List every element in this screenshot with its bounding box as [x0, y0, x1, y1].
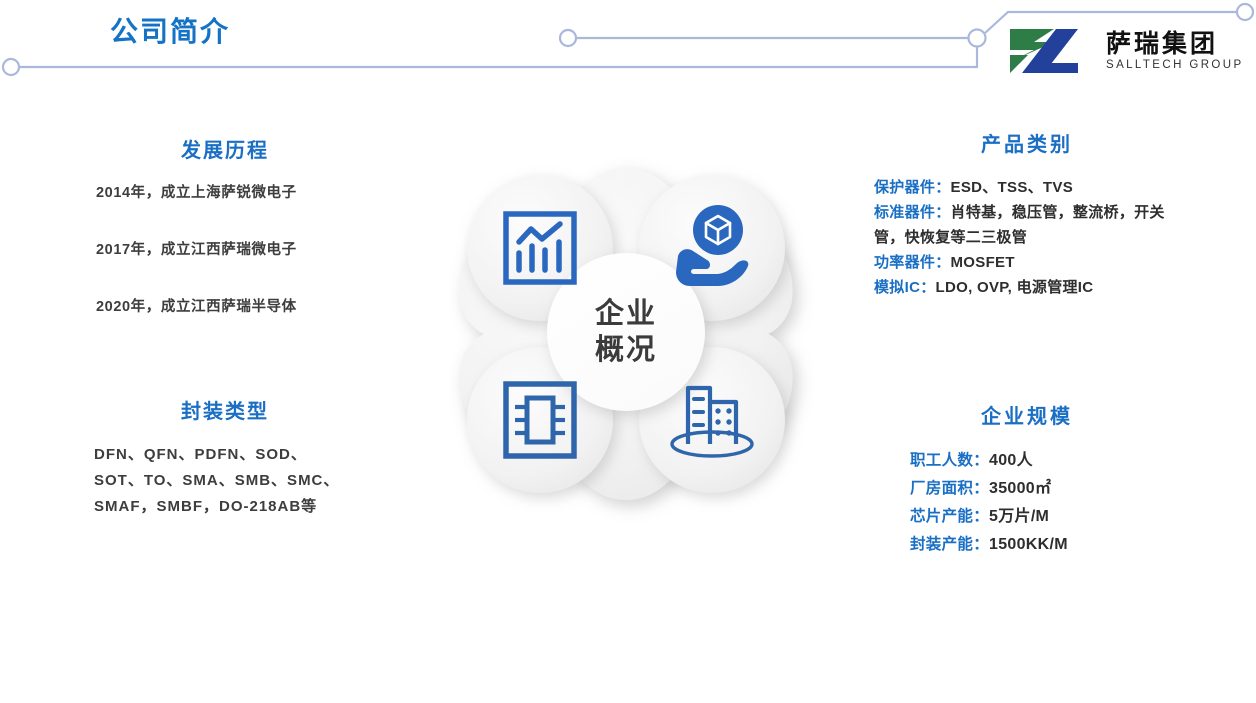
- panel-title-products: 产品类别: [862, 128, 1192, 157]
- scale-row: 厂房面积：35000㎡: [910, 475, 1192, 503]
- product-category-row: 功率器件：MOSFET: [874, 250, 1194, 275]
- product-category-value: ESD、TSS、TVS: [951, 179, 1074, 196]
- product-category-value: LDO, OVP, 电源管理IC: [936, 279, 1094, 296]
- history-item: 2014年，成立上海萨锐微电子: [96, 181, 390, 202]
- product-category-row: 模拟IC：LDO, OVP, 电源管理IC: [874, 275, 1194, 300]
- company-logo: 萨瑞集团 SALLTECH GROUP: [1004, 22, 1244, 80]
- logo-mark-icon: [1004, 25, 1096, 77]
- product-category-key: 保护器件：: [874, 179, 951, 196]
- history-item: 2017年，成立江西萨瑞微电子: [96, 238, 390, 259]
- product-category-key: 模拟IC：: [874, 279, 936, 296]
- panel-enterprise-scale: 企业规模 职工人数：400人 厂房面积：35000㎡ 芯片产能：5万片/M 封装…: [862, 400, 1192, 559]
- panel-development-history: 发展历程 2014年，成立上海萨锐微电子 2017年，成立江西萨瑞微电子 202…: [60, 134, 390, 316]
- logo-name-en: SALLTECH GROUP: [1106, 59, 1244, 71]
- product-category-key: 功率器件：: [874, 254, 951, 271]
- history-item: 2020年，成立江西萨瑞半导体: [96, 295, 390, 316]
- product-category-list: 保护器件：ESD、TSS、TVS 标准器件：肖特基，稳压管，整流桥，开关管，快恢…: [874, 175, 1194, 300]
- scale-value: 1500KK/M: [989, 536, 1068, 553]
- scale-value: 35000㎡: [989, 480, 1051, 497]
- panel-product-categories: 产品类别 保护器件：ESD、TSS、TVS 标准器件：肖特基，稳压管，整流桥，开…: [862, 128, 1192, 300]
- logo-name-cn: 萨瑞集团: [1106, 31, 1244, 57]
- scale-value: 5万片/M: [989, 508, 1049, 525]
- scale-key: 芯片产能：: [910, 508, 989, 525]
- logo-text: 萨瑞集团 SALLTECH GROUP: [1106, 31, 1244, 70]
- scale-key: 职工人数：: [910, 452, 989, 469]
- enterprise-scale-list: 职工人数：400人 厂房面积：35000㎡ 芯片产能：5万片/M 封装产能：15…: [910, 447, 1192, 559]
- panel-package-types: 封装类型 DFN、QFN、PDFN、SOD、SOT、TO、SMA、SMB、SMC…: [60, 395, 390, 520]
- panel-title-scale: 企业规模: [862, 400, 1192, 429]
- scale-row: 封装产能：1500KK/M: [910, 531, 1192, 559]
- product-category-row: 标准器件：肖特基，稳压管，整流桥，开关管，快恢复等二三极管: [874, 200, 1194, 250]
- product-category-row: 保护器件：ESD、TSS、TVS: [874, 175, 1194, 200]
- scale-key: 厂房面积：: [910, 480, 989, 497]
- scale-key: 封装产能：: [910, 536, 989, 553]
- right-column: 产品类别 保护器件：ESD、TSS、TVS 标准器件：肖特基，稳压管，整流桥，开…: [862, 125, 1192, 300]
- page-header: 公司简介 萨瑞集团 SALLTECH GROUP: [0, 0, 1256, 95]
- panel-title-history: 发展历程: [60, 134, 390, 163]
- scale-value: 400人: [989, 452, 1033, 469]
- scale-row: 职工人数：400人: [910, 447, 1192, 475]
- product-category-value: MOSFET: [951, 254, 1015, 271]
- center-overview-graphic: 企业 概况: [410, 118, 842, 550]
- left-column: 发展历程 2014年，成立上海萨锐微电子 2017年，成立江西萨瑞微电子 202…: [60, 125, 390, 316]
- package-types-text: DFN、QFN、PDFN、SOD、SOT、TO、SMA、SMB、SMC、SMAF…: [94, 442, 344, 520]
- product-category-key: 标准器件：: [874, 204, 951, 221]
- scale-row: 芯片产能：5万片/M: [910, 503, 1192, 531]
- panel-title-packages: 封装类型: [60, 395, 390, 424]
- clover-diagram: [410, 118, 842, 550]
- page-title: 公司简介: [110, 10, 230, 50]
